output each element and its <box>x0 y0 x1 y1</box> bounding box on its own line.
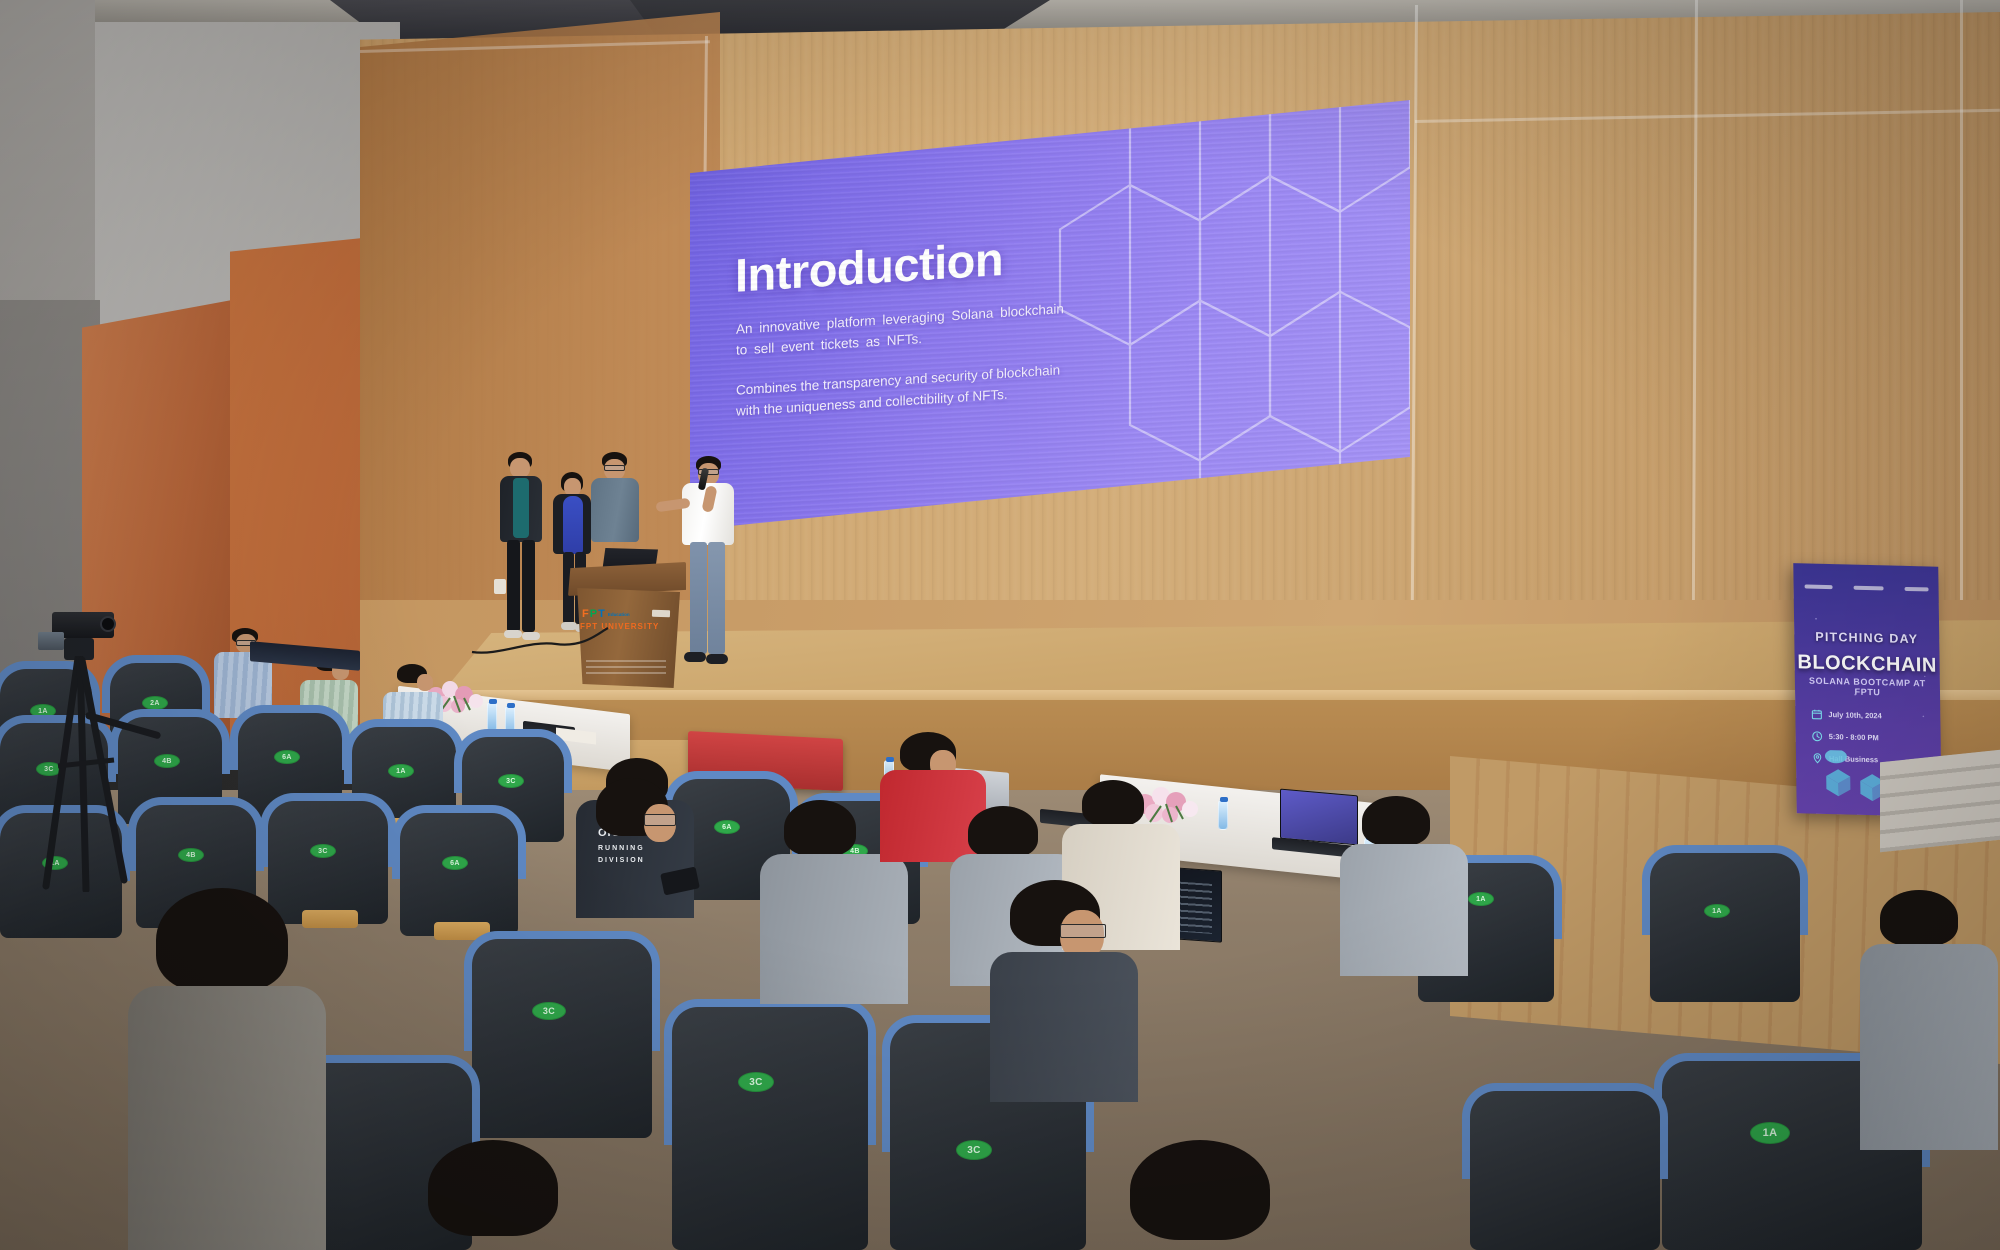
auditorium-photo: Introduction An innovative platform leve… <box>0 0 2000 1250</box>
seat-number-badge: 1A <box>1468 892 1494 906</box>
legs <box>690 542 707 654</box>
presenter-speaking <box>680 456 738 676</box>
camera-flip-screen <box>38 632 64 650</box>
seat-number-badge: 3C <box>738 1072 774 1092</box>
seat[interactable]: 1A <box>1650 852 1800 1002</box>
podium-vent <box>586 660 666 680</box>
projection-screen: Introduction An innovative platform leve… <box>690 100 1410 530</box>
hair <box>1130 1140 1270 1240</box>
podium-nameplate <box>652 610 670 618</box>
slide-paragraph-1: An innovative platform leveraging Solana… <box>736 299 1066 362</box>
face <box>510 458 530 478</box>
audience-member-front-center <box>408 1140 608 1250</box>
seat-number-badge: 1A <box>388 764 414 778</box>
wall-outlet <box>494 579 506 594</box>
torso <box>760 854 908 1004</box>
banner-info-time: 5:30 - 8:00 PM <box>1812 731 1883 744</box>
audience-member-far-right <box>1860 890 2000 1150</box>
seat-number-badge: 1A <box>1704 904 1730 918</box>
seat-number-badge: 6A <box>442 856 468 870</box>
glasses-icon <box>1060 924 1106 938</box>
blue-jersey <box>563 496 583 554</box>
seat-number-badge: 3C <box>956 1140 992 1160</box>
hair <box>156 888 288 992</box>
seat-number-badge: 3C <box>310 844 336 858</box>
glasses-icon <box>604 465 625 471</box>
hair <box>1362 796 1430 846</box>
slide-content: Introduction An innovative platform leve… <box>690 100 1410 530</box>
tripod-legs <box>28 656 138 892</box>
calendar-icon <box>1811 709 1822 720</box>
glasses-icon <box>644 814 676 826</box>
audience-member-glasses-front <box>990 880 1140 1100</box>
slide-body: An innovative platform leveraging Solana… <box>736 299 1066 422</box>
seat-number-badge: 1A <box>1750 1122 1790 1144</box>
seat[interactable]: 3C <box>672 1006 868 1250</box>
water-bottle <box>1218 800 1228 830</box>
shoes <box>684 652 706 662</box>
slide-title: Introduction <box>735 231 1003 303</box>
banner-title: BLOCKCHAIN <box>1794 651 1939 678</box>
torso <box>990 952 1138 1102</box>
torso <box>1860 944 1998 1150</box>
audience-member-bottom-right <box>1100 1140 1300 1250</box>
inner-shirt <box>513 478 529 538</box>
seat-number-badge: 3C <box>532 1002 566 1020</box>
audience-member-front-left <box>128 888 328 1250</box>
torso <box>591 478 639 542</box>
seat-number-badge: 4B <box>178 848 204 862</box>
torso <box>128 986 326 1250</box>
hair <box>1082 780 1144 826</box>
seat[interactable]: 3C <box>472 938 652 1138</box>
seat-number-badge: 4B <box>154 754 180 768</box>
camera-lens-icon <box>100 616 116 632</box>
audience-member-right <box>1340 796 1470 976</box>
seat[interactable] <box>1470 1090 1660 1250</box>
shoes <box>706 654 728 664</box>
seat-number-badge: 6A <box>714 820 740 834</box>
seat-number-badge: 3C <box>498 774 524 788</box>
banner-info-date: July 10th, 2024 <box>1811 709 1882 722</box>
banner-subtitle: SOLANA BOOTCAMP AT FPTU <box>1795 675 1940 699</box>
wall-seam <box>1960 0 1963 600</box>
hair <box>784 800 856 856</box>
seat-number-badge: 6A <box>274 750 300 764</box>
legs <box>708 542 725 654</box>
hair <box>428 1140 558 1236</box>
water-bottle <box>487 702 497 732</box>
seat[interactable]: 6A <box>400 812 518 936</box>
face <box>417 674 433 691</box>
camera-tripod <box>28 612 138 892</box>
torso <box>1340 844 1468 976</box>
stairs-right <box>1880 750 2000 853</box>
hair <box>1880 890 1958 946</box>
cable <box>470 618 610 658</box>
fpt-logo-sub: Education <box>608 612 630 617</box>
banner-date-text: July 10th, 2024 <box>1828 711 1881 720</box>
banner-time-text: 5:30 - 8:00 PM <box>1829 733 1879 742</box>
clock-icon <box>1812 731 1823 742</box>
seat-number-badge: 2A <box>142 696 168 710</box>
hair <box>968 806 1038 858</box>
